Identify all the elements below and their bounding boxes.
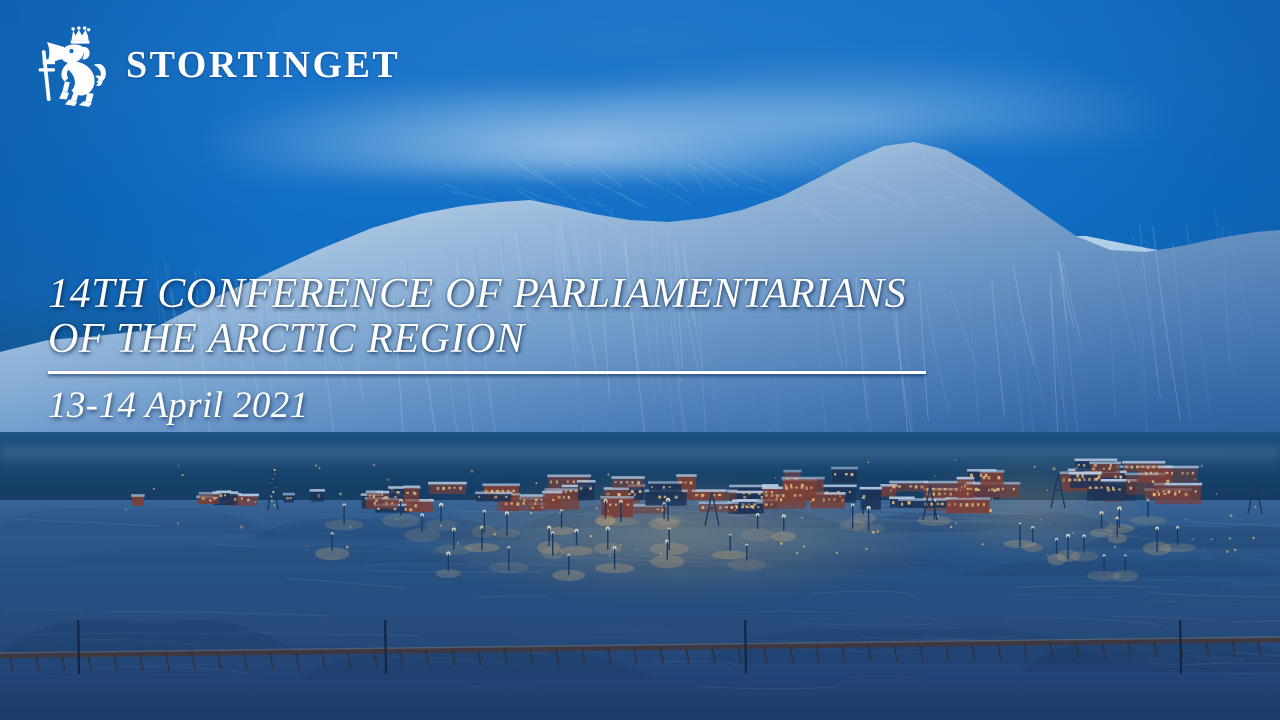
conference-date: 13-14 April 2021 — [48, 383, 948, 429]
brand-wordmark: STORTINGET — [126, 46, 400, 84]
pipeline-trestle — [0, 620, 1280, 710]
norwegian-lion-coat-of-arms-icon — [28, 22, 110, 108]
title-divider-rule — [48, 371, 926, 374]
title-card-stage: STORTINGET 14TH CONFERENCE OF PARLIAMENT… — [0, 0, 1280, 720]
conference-title-line-2: OF THE ARCTIC REGION — [48, 317, 948, 362]
title-block: 14TH CONFERENCE OF PARLIAMENTARIANS OF T… — [48, 272, 948, 429]
town-longyearbyen — [0, 440, 1280, 620]
ridge-mist-secondary — [560, 60, 1280, 140]
conference-title-line-1: 14TH CONFERENCE OF PARLIAMENTARIANS — [48, 272, 948, 317]
brand-lockup: STORTINGET — [28, 22, 400, 108]
